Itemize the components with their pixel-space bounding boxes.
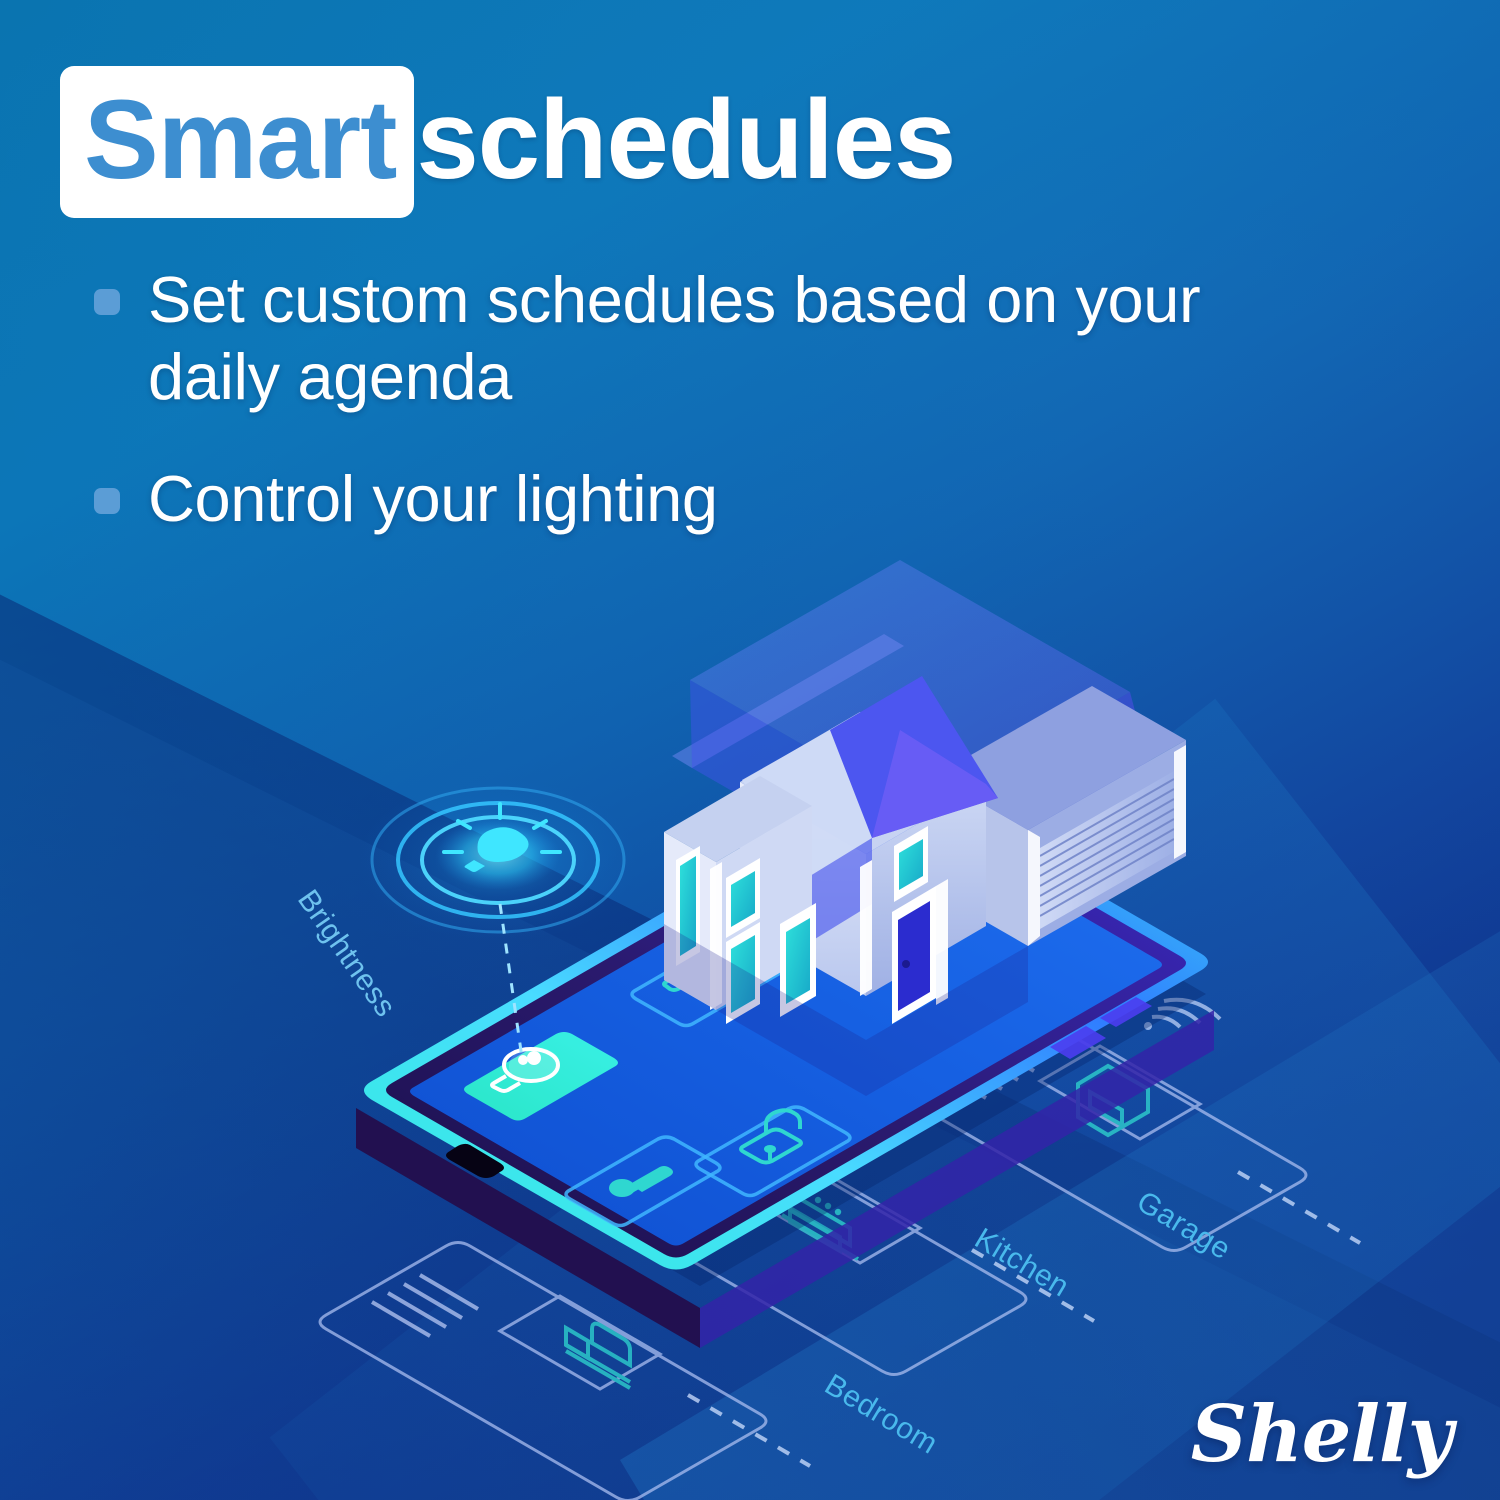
list-item: Control your lighting <box>94 461 1324 538</box>
page-title: Smart schedules <box>60 66 955 218</box>
promo-canvas: Smart schedules Set custom schedules bas… <box>0 0 1500 1500</box>
bullet-square-icon <box>94 488 120 514</box>
bullet-text: Control your lighting <box>148 461 718 538</box>
shelly-logo: Shelly <box>1191 1396 1452 1474</box>
feature-bullet-list: Set custom schedules based on your daily… <box>94 262 1324 584</box>
smart-home-illustration <box>0 560 1500 1500</box>
bullet-text: Set custom schedules based on your daily… <box>148 262 1324 415</box>
bullet-square-icon <box>94 289 120 315</box>
list-item: Set custom schedules based on your daily… <box>94 262 1324 415</box>
headline-accent-chip: Smart <box>60 66 414 218</box>
headline-rest: schedules <box>416 84 955 200</box>
